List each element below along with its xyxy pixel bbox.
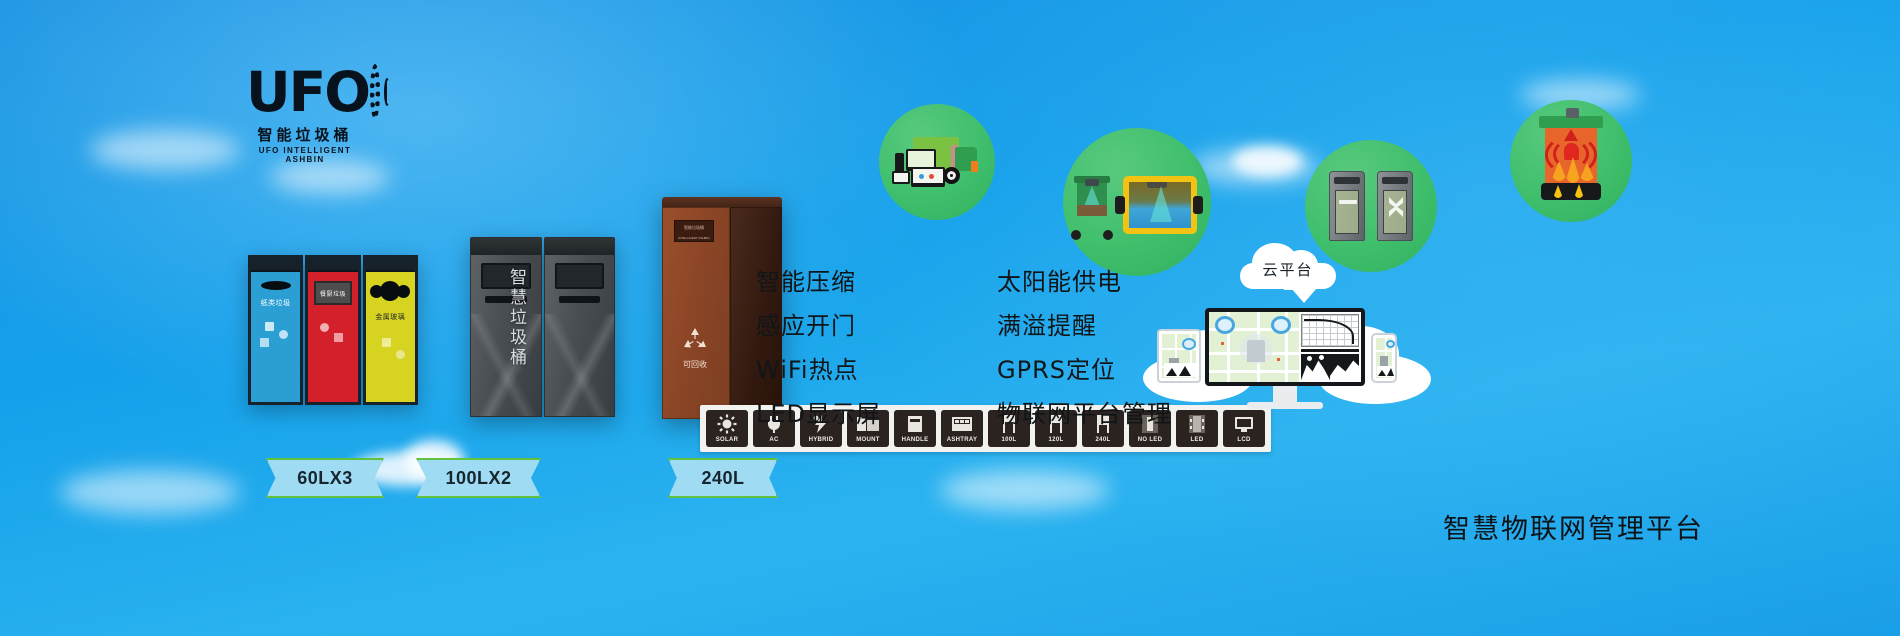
feature-label: 感应开门 xyxy=(756,306,856,341)
feature-column-1: 智能压缩 感应开门 WiFi热点 LED显示屏 xyxy=(718,262,881,429)
compaction-bin xyxy=(1377,171,1413,241)
promo-banner: UFO 智能垃圾桶 UFO INTELLIGENT ASHBIN 纸类垃圾 xyxy=(0,0,1900,636)
cloud-decor xyxy=(60,470,240,514)
bin-compartment-label: 金属玻璃 xyxy=(375,312,405,322)
bin-slot xyxy=(559,296,601,303)
garbage-truck-and-devices-icon xyxy=(879,104,995,220)
option-label: HANDLE xyxy=(902,435,929,447)
feature-label: WiFi热点 xyxy=(756,350,859,385)
feature-item: 物联网平台管理 xyxy=(959,394,1172,429)
feature-label: 太阳能供电 xyxy=(997,262,1122,297)
recycle-mark: 可回收 xyxy=(678,327,712,370)
ribbon-label-240l: 240L xyxy=(668,458,778,498)
option-label: SOLAR xyxy=(716,435,739,447)
bin-cap xyxy=(308,258,357,272)
monitor-icon xyxy=(959,272,981,288)
logo-english-name: UFO INTELLIGENT ASHBIN xyxy=(246,146,364,164)
compaction-bin xyxy=(1329,171,1365,241)
option-label: ASHTRAY xyxy=(947,435,978,447)
bin-panel: 金属玻璃 xyxy=(366,272,415,402)
phone-map-screen xyxy=(1376,338,1392,378)
slot-screen-icon: 餐厨垃圾 xyxy=(314,281,352,305)
logo-circle-icon xyxy=(370,64,380,120)
monitor-icon xyxy=(959,404,981,420)
bin-side-text: 智慧垃圾桶 xyxy=(504,268,529,368)
bin-panel: 纸类垃圾 xyxy=(251,272,300,402)
monitor-icon xyxy=(718,316,740,332)
logo-chinese-name: 智能垃圾桶 xyxy=(246,124,364,145)
feature-item: LED显示屏 xyxy=(718,394,881,429)
feature-item: 满溢提醒 xyxy=(959,306,1172,341)
bin-lower-graphic xyxy=(366,328,415,402)
bin-panel: 餐厨垃圾 xyxy=(308,272,357,402)
feature-label: GPRS定位 xyxy=(997,350,1116,385)
highlight-circle-fill-level xyxy=(1063,128,1211,276)
monitor-neck xyxy=(1273,386,1297,402)
charts-panel xyxy=(1299,312,1361,382)
ribbon-label-100lx2: 100LX2 xyxy=(416,458,541,498)
bin-body-reflection xyxy=(545,303,615,416)
bin-cap xyxy=(471,238,541,255)
cloud-decor xyxy=(1232,146,1302,176)
bin-compartment: 纸类垃圾 xyxy=(248,255,303,405)
area-chart xyxy=(1301,354,1359,380)
option-label: MOUNT xyxy=(856,435,880,447)
bin-compartment: 餐厨垃圾 xyxy=(305,255,360,405)
feature-column-2: 太阳能供电 满溢提醒 GPRS定位 物联网平台管理 xyxy=(959,262,1172,429)
bin-base xyxy=(1541,183,1601,200)
recycle-label: 可回收 xyxy=(678,359,712,370)
slot-round-icon xyxy=(380,281,400,301)
bin-display-screen: 智能垃圾桶 INTELLIGENT ASHBIN xyxy=(674,220,714,242)
feature-list: 智能压缩 感应开门 WiFi热点 LED显示屏 太阳能供电 满溢提醒 xyxy=(718,262,1172,429)
bin-fire-alarm-icon xyxy=(1510,100,1632,222)
bin-cap xyxy=(251,258,300,272)
feature-item: WiFi热点 xyxy=(718,350,881,385)
bin-unit xyxy=(544,237,616,417)
ribbon-text: 100LX2 xyxy=(445,468,511,489)
bin-cap xyxy=(545,238,615,255)
monitor-icon xyxy=(718,272,740,288)
cloud-platform-badge: 云平台 xyxy=(1240,243,1336,289)
flame-icon xyxy=(1579,163,1595,181)
cloud-decor xyxy=(940,470,1110,510)
feature-label: 智能压缩 xyxy=(756,262,856,297)
monitor-screen xyxy=(1209,312,1361,382)
ribbon-text: 240L xyxy=(701,468,744,489)
bin-fill-level-sensor-icon xyxy=(1063,128,1211,276)
highlight-circle-truck xyxy=(879,104,995,220)
bin-display-screen xyxy=(555,263,605,289)
feature-item: 智能压缩 xyxy=(718,262,881,297)
bin-lower-graphic xyxy=(251,314,300,402)
option-label: AC xyxy=(769,435,778,447)
recycle-icon xyxy=(682,327,708,351)
bin-lower-graphic xyxy=(308,311,357,402)
bin-compartment-label: 餐厨垃圾 xyxy=(320,289,346,298)
download-arrow-icon xyxy=(1291,288,1317,303)
option-label: 120L xyxy=(1049,435,1064,447)
feature-item: GPRS定位 xyxy=(959,350,1172,385)
feature-item: 太阳能供电 xyxy=(959,262,1172,297)
feature-label: 物联网平台管理 xyxy=(997,394,1172,429)
map-panel xyxy=(1209,312,1299,382)
feature-item: 感应开门 xyxy=(718,306,881,341)
line-chart xyxy=(1301,314,1359,347)
product-bin-60lx3: 纸类垃圾 餐厨垃圾 xyxy=(248,255,418,405)
cloud-decor xyxy=(270,160,390,194)
ribbon-text: 60LX3 xyxy=(297,468,353,489)
desktop-monitor xyxy=(1205,308,1365,386)
highlight-circle-fire-alarm xyxy=(1510,100,1632,222)
phone-device xyxy=(1371,333,1397,383)
monitor-icon xyxy=(718,360,740,376)
option-label: 100L xyxy=(1002,435,1017,447)
iot-dashboard-illustration xyxy=(1143,292,1428,442)
bin-compartment: 金属玻璃 xyxy=(363,255,418,405)
cloud-platform-label: 云平台 xyxy=(1240,243,1336,289)
monitor-icon xyxy=(959,360,981,376)
ribbon-label-60lx3: 60LX3 xyxy=(266,458,384,498)
brand-logo: UFO 智能垃圾桶 UFO INTELLIGENT ASHBIN xyxy=(246,62,364,160)
bin-handle xyxy=(1566,108,1579,118)
burning-bin xyxy=(1545,127,1597,187)
logo-wordmark: UFO xyxy=(246,66,369,118)
feature-label: LED显示屏 xyxy=(756,394,881,429)
platform-title: 智慧物联网管理平台 xyxy=(1443,507,1704,546)
option-label: 240L xyxy=(1096,435,1111,447)
feature-label: 满溢提醒 xyxy=(997,306,1097,341)
cloud-decor xyxy=(90,130,240,170)
product-bin-100lx2 xyxy=(470,237,615,417)
monitor-base xyxy=(1247,402,1323,409)
option-label: HYBRID xyxy=(809,435,834,447)
compress-arrows-icon xyxy=(1386,196,1406,218)
monitor-icon xyxy=(959,316,981,332)
bin-compartment-label: 纸类垃圾 xyxy=(261,298,291,308)
monitor-icon xyxy=(718,404,740,420)
bin-screen-subtitle: INTELLIGENT ASHBIN xyxy=(675,231,713,241)
slot-oval-icon xyxy=(261,281,291,290)
logo-wordmark-row: UFO xyxy=(246,62,364,122)
bin-screen-title: 智能垃圾桶 xyxy=(675,221,713,231)
bin-cap xyxy=(366,258,415,272)
